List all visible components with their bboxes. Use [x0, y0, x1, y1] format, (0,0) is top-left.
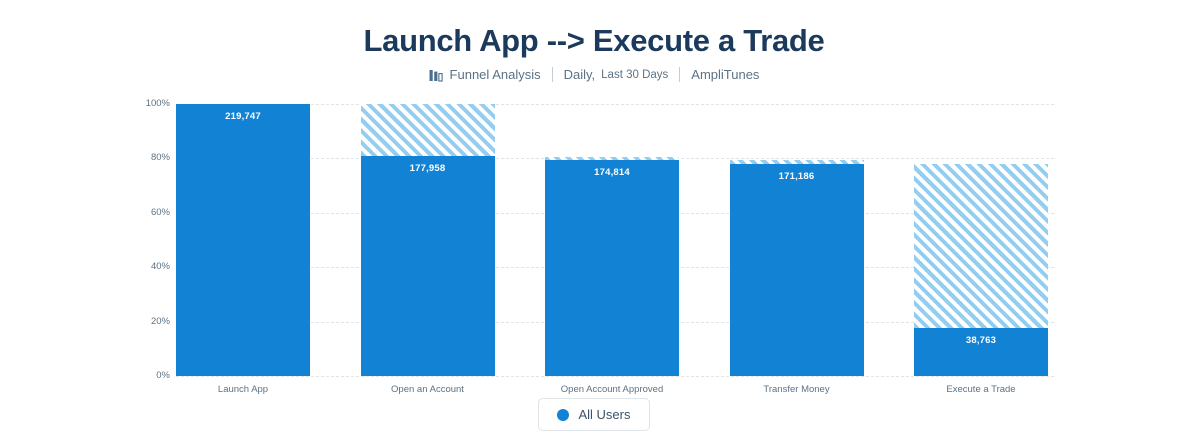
project-label: AmpliTunes — [691, 67, 759, 82]
legend-item-all-users[interactable]: All Users — [538, 398, 649, 431]
bar-stack[interactable]: 219,747 — [176, 104, 310, 376]
subtitle-interval[interactable]: Daily, Last 30 Days — [553, 67, 680, 82]
funnel-step-column[interactable]: 219,747Launch App — [176, 104, 310, 376]
y-axis-tick-label: 60% — [112, 207, 170, 218]
funnel-step-column[interactable]: 38,763Execute a Trade — [914, 104, 1048, 376]
bar-converted-segment[interactable]: 171,186 — [730, 164, 864, 376]
funnel-step-column[interactable]: 177,958Open an Account — [361, 104, 495, 376]
funnel-bar-chart-icon — [429, 68, 444, 83]
chart-header: Launch App --> Execute a Trade Funnel An… — [0, 22, 1188, 82]
x-axis-category-label: Transfer Money — [730, 384, 864, 395]
bars-layer: 219,747Launch App177,958Open an Account1… — [176, 104, 1048, 376]
legend-item-label: All Users — [578, 407, 630, 422]
subtitle-analysis-type[interactable]: Funnel Analysis — [418, 67, 552, 82]
legend-color-swatch-icon — [557, 409, 569, 421]
y-axis-tick-label: 80% — [112, 152, 170, 163]
funnel-chart-page: Launch App --> Execute a Trade Funnel An… — [0, 0, 1188, 446]
funnel-step-column[interactable]: 174,814Open Account Approved — [545, 104, 679, 376]
x-axis-category-label: Open Account Approved — [545, 384, 679, 395]
bar-stack[interactable]: 174,814 — [545, 157, 679, 376]
y-axis-tick-label: 0% — [112, 370, 170, 381]
gridline — [176, 376, 1054, 377]
bar-value-label: 171,186 — [730, 171, 864, 182]
bar-value-label: 219,747 — [176, 111, 310, 122]
y-axis-tick-label: 100% — [112, 98, 170, 109]
y-axis-tick-label: 20% — [112, 316, 170, 327]
bar-converted-segment[interactable]: 219,747 — [176, 104, 310, 376]
bar-dropoff-segment[interactable] — [361, 104, 495, 156]
x-axis-category-label: Launch App — [176, 384, 310, 395]
chart-subtitle: Funnel Analysis Daily, Last 30 Days Ampl… — [0, 67, 1188, 82]
chart-plot-area: 0%20%40%60%80%100% 219,747Launch App177,… — [148, 104, 1048, 376]
bar-dropoff-segment[interactable] — [914, 164, 1048, 328]
y-axis-tick-label: 40% — [112, 261, 170, 272]
bar-value-label: 38,763 — [914, 335, 1048, 346]
bar-converted-segment[interactable]: 38,763 — [914, 328, 1048, 376]
interval-primary-label: Daily, — [564, 67, 596, 82]
bar-converted-segment[interactable]: 177,958 — [361, 156, 495, 376]
bar-value-label: 177,958 — [361, 163, 495, 174]
analysis-type-label: Funnel Analysis — [450, 67, 541, 82]
funnel-step-column[interactable]: 171,186Transfer Money — [730, 104, 864, 376]
subtitle-project[interactable]: AmpliTunes — [680, 67, 770, 82]
bar-stack[interactable]: 177,958 — [361, 104, 495, 376]
interval-secondary-label: Last 30 Days — [601, 69, 668, 81]
x-axis-category-label: Execute a Trade — [914, 384, 1048, 395]
bar-converted-segment[interactable]: 174,814 — [545, 160, 679, 377]
bar-stack[interactable]: 38,763 — [914, 164, 1048, 376]
page-title: Launch App --> Execute a Trade — [0, 22, 1188, 60]
bar-value-label: 174,814 — [545, 167, 679, 178]
bar-stack[interactable]: 171,186 — [730, 160, 864, 376]
x-axis-category-label: Open an Account — [361, 384, 495, 395]
chart-legend: All Users — [0, 398, 1188, 431]
